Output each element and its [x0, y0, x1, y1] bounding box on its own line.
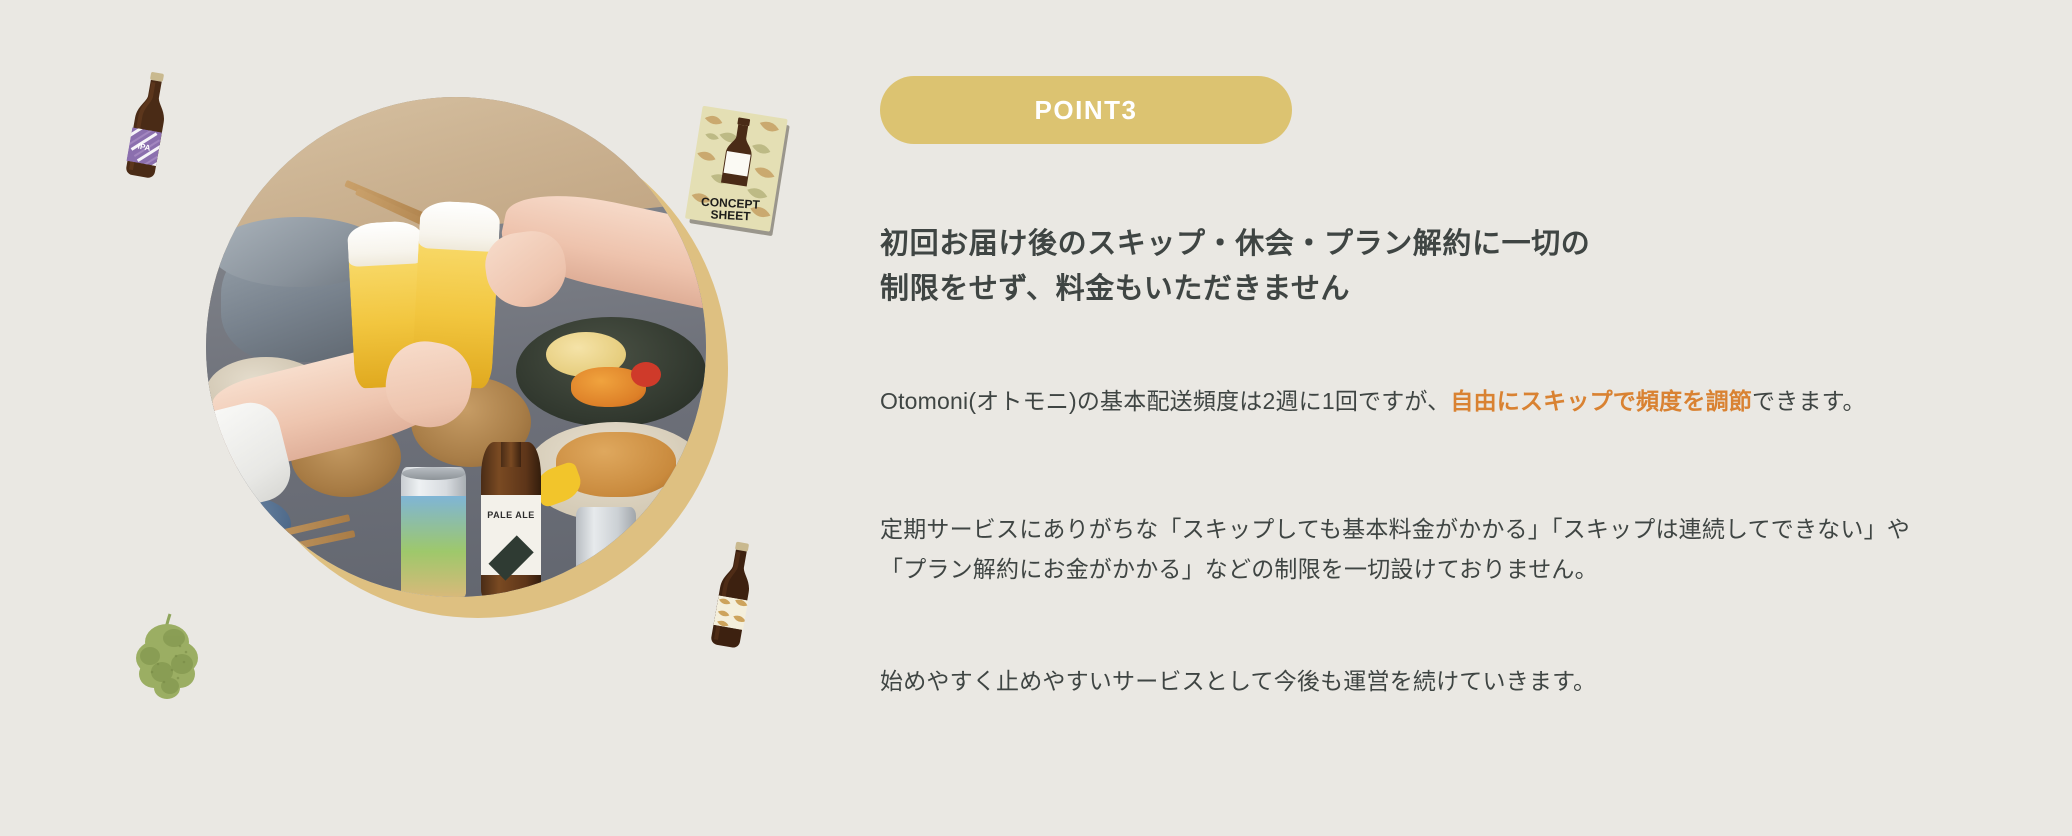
photo-bottle-label-text: PALE ALE	[481, 510, 541, 520]
body-paragraph-2: 定期サービスにありがちな「スキップしても基本料金がかかる」「スキップは連続してで…	[880, 510, 1930, 589]
hop-cone-icon	[128, 612, 206, 702]
visual-column: PALE ALE	[0, 0, 880, 836]
photo-beer-bottle: PALE ALE	[481, 442, 541, 597]
photo-food-pepper	[631, 362, 661, 387]
content-column: POINT3 初回お届け後のスキップ・休会・プラン解約に一切の 制限をせず、料金…	[880, 0, 2072, 836]
point-badge-label: POINT3	[1035, 95, 1138, 126]
point-badge: POINT3	[880, 76, 1292, 144]
concept-sheet-card-icon: CONCEPT SHEET	[681, 103, 795, 239]
photo-beer-foam	[418, 200, 500, 252]
concept-sheet-line2: SHEET	[710, 207, 751, 223]
photo-bottle-neck	[501, 442, 521, 467]
section-heading-line2: 制限をせず、料金もいただきません	[880, 273, 1350, 305]
body-1-before: Otomoni(オトモニ)の基本配送頻度は2週に1回ですが、	[880, 388, 1450, 414]
beer-bottle-gold-icon	[699, 536, 769, 653]
photo-can-artwork	[401, 496, 466, 597]
section-heading-line1: 初回お届け後のスキップ・休会・プラン解約に一切の	[880, 228, 1590, 260]
point3-section: PALE ALE	[0, 0, 2072, 836]
photo-beer-can	[576, 507, 636, 597]
cheers-photo: PALE ALE	[206, 97, 706, 597]
body-1-after: できます。	[1752, 388, 1866, 414]
photo-scene: PALE ALE	[206, 97, 706, 597]
beer-bottle-purple-icon: IPA	[109, 66, 187, 185]
body-1-highlight: 自由にスキップで頻度を調節	[1450, 388, 1752, 414]
section-heading: 初回お届け後のスキップ・休会・プラン解約に一切の 制限をせず、料金もいただきませ…	[880, 222, 2020, 312]
body-paragraph-1: Otomoni(オトモニ)の基本配送頻度は2週に1回ですが、自由にスキップで頻度…	[880, 382, 1930, 422]
body-paragraph-3: 始めやすく止めやすいサービスとして今後も運営を続けていきます。	[880, 662, 1930, 702]
photo-can-lid	[402, 467, 464, 480]
photo-beer-foam	[347, 220, 424, 267]
photo-beer-can	[401, 467, 466, 597]
